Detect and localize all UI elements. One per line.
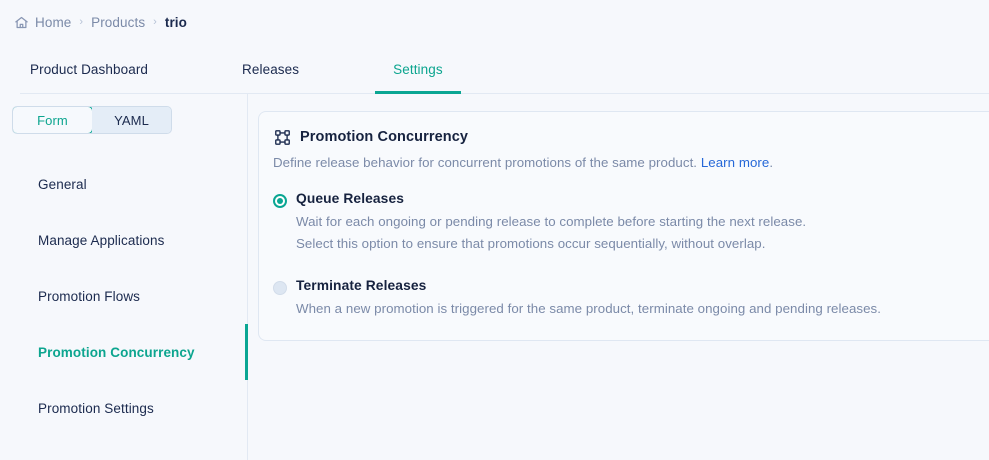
- radio-terminate-releases[interactable]: [273, 281, 287, 295]
- card-title: Promotion Concurrency: [300, 129, 468, 145]
- breadcrumb-item-home[interactable]: Home: [35, 15, 71, 30]
- card-header: Promotion Concurrency: [273, 128, 983, 146]
- sidebar-item-promotion-flows[interactable]: Promotion Flows: [0, 268, 248, 324]
- breadcrumb: Home › Products › trio: [0, 0, 989, 44]
- tab-releases[interactable]: Releases: [224, 44, 317, 94]
- tab-bar: Product Dashboard Releases Settings: [0, 44, 989, 94]
- learn-more-link[interactable]: Learn more: [701, 155, 770, 170]
- option-description-line: Wait for each ongoing or pending release…: [296, 211, 806, 233]
- option-terminate-releases[interactable]: Terminate Releases When a new promotion …: [273, 278, 983, 320]
- sidebar-item-promotion-concurrency[interactable]: Promotion Concurrency: [0, 324, 248, 380]
- option-body: Queue Releases Wait for each ongoing or …: [296, 191, 806, 255]
- concurrency-radio-group: Queue Releases Wait for each ongoing or …: [273, 191, 983, 320]
- breadcrumb-separator: ›: [78, 17, 84, 28]
- breadcrumb-item-current: trio: [165, 15, 187, 30]
- option-label-terminate-releases: Terminate Releases: [296, 278, 881, 293]
- promotion-concurrency-card: Promotion Concurrency Define release beh…: [258, 111, 989, 341]
- tab-product-dashboard[interactable]: Product Dashboard: [12, 44, 166, 94]
- option-queue-releases[interactable]: Queue Releases Wait for each ongoing or …: [273, 191, 983, 255]
- card-description-text: Define release behavior for concurrent p…: [273, 155, 697, 170]
- option-description-line: When a new promotion is triggered for th…: [296, 298, 881, 320]
- card-description: Define release behavior for concurrent p…: [273, 153, 983, 172]
- sidebar-item-manage-applications[interactable]: Manage Applications: [0, 212, 248, 268]
- card-description-period: .: [769, 155, 773, 170]
- option-body: Terminate Releases When a new promotion …: [296, 278, 881, 320]
- settings-content: Promotion Concurrency Define release beh…: [248, 94, 989, 454]
- option-label-queue-releases: Queue Releases: [296, 191, 806, 206]
- tab-settings[interactable]: Settings: [375, 44, 461, 94]
- main-layout: Form YAML General Manage Applications Pr…: [0, 94, 989, 454]
- sidebar-item-promotion-settings[interactable]: Promotion Settings: [0, 380, 248, 436]
- settings-sidebar: Form YAML General Manage Applications Pr…: [0, 94, 248, 454]
- workflow-nodes-icon: [273, 128, 291, 146]
- breadcrumb-item-products[interactable]: Products: [91, 15, 145, 30]
- radio-queue-releases[interactable]: [273, 194, 287, 208]
- home-icon: [14, 15, 29, 30]
- view-mode-yaml-button[interactable]: YAML: [92, 107, 171, 133]
- sidebar-item-general[interactable]: General: [0, 156, 248, 212]
- settings-nav-list: General Manage Applications Promotion Fl…: [0, 156, 248, 436]
- view-mode-toggle: Form YAML: [12, 106, 172, 134]
- option-description-line: Select this option to ensure that promot…: [296, 233, 806, 255]
- breadcrumb-separator: ›: [152, 17, 158, 28]
- view-mode-form-button[interactable]: Form: [12, 106, 93, 134]
